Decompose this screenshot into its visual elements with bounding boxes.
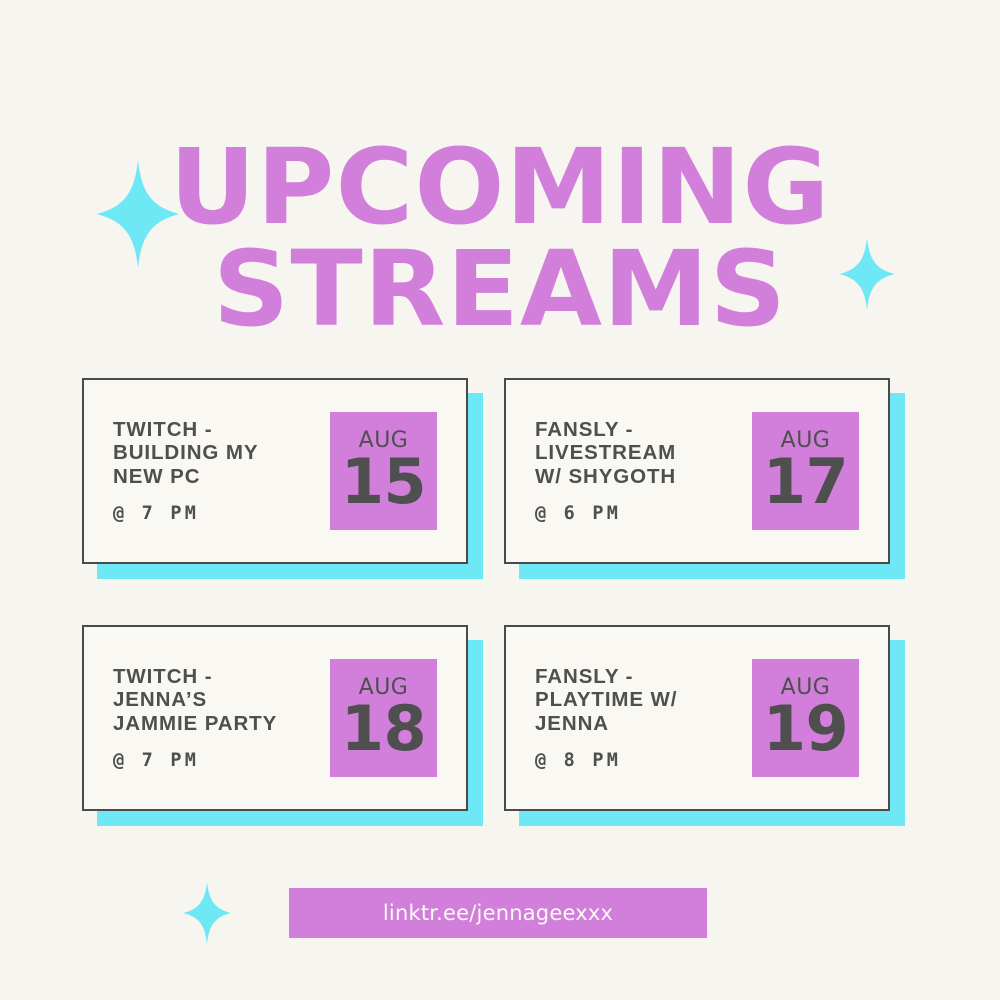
stream-card[interactable]: FANSLY - PLAYTIME W/ JENNA @ 8 PM AUG 19 <box>504 625 890 811</box>
linktree-url-text: linktr.ee/jennageexxx <box>383 901 613 925</box>
stream-card[interactable]: TWITCH - BUILDING MY NEW PC @ 7 PM AUG 1… <box>82 378 468 564</box>
stream-card-wrapper: TWITCH - BUILDING MY NEW PC @ 7 PM AUG 1… <box>82 378 468 564</box>
page-title-line-1: UPCOMING <box>0 137 1000 239</box>
date-badge: AUG 18 <box>330 659 437 777</box>
date-badge: AUG 15 <box>330 412 437 530</box>
stream-card-row: TWITCH - JENNA’S JAMMIE PARTY @ 7 PM AUG… <box>82 625 902 811</box>
date-badge: AUG 17 <box>752 412 859 530</box>
sparkle-icon <box>182 882 232 944</box>
page-title-line-2: STREAMS <box>0 239 1000 341</box>
stream-time: @ 7 PM <box>113 503 326 524</box>
stream-time: @ 6 PM <box>535 503 748 524</box>
linktree-link-bar[interactable]: linktr.ee/jennageexxx <box>289 888 707 938</box>
stream-time: @ 8 PM <box>535 750 748 771</box>
date-day: 15 <box>341 450 426 513</box>
date-day: 18 <box>341 697 426 760</box>
stream-title: TWITCH - JENNA’S JAMMIE PARTY <box>113 665 326 734</box>
stream-card-row: TWITCH - BUILDING MY NEW PC @ 7 PM AUG 1… <box>82 378 902 564</box>
stream-card-wrapper: FANSLY - PLAYTIME W/ JENNA @ 8 PM AUG 19 <box>504 625 890 811</box>
date-badge: AUG 19 <box>752 659 859 777</box>
stream-card[interactable]: TWITCH - JENNA’S JAMMIE PARTY @ 7 PM AUG… <box>82 625 468 811</box>
stream-card-body: FANSLY - PLAYTIME W/ JENNA @ 8 PM <box>506 665 752 770</box>
stream-time: @ 7 PM <box>113 750 326 771</box>
poster-canvas: UPCOMING STREAMS TWITCH - BUILDING MY NE… <box>0 0 1000 1000</box>
stream-card-body: FANSLY - LIVESTREAM W/ SHYGOTH @ 6 PM <box>506 418 752 523</box>
date-day: 19 <box>763 697 848 760</box>
stream-title: FANSLY - PLAYTIME W/ JENNA <box>535 665 748 734</box>
stream-card[interactable]: FANSLY - LIVESTREAM W/ SHYGOTH @ 6 PM AU… <box>504 378 890 564</box>
stream-card-body: TWITCH - BUILDING MY NEW PC @ 7 PM <box>84 418 330 523</box>
page-title: UPCOMING STREAMS <box>0 137 1000 341</box>
stream-card-wrapper: FANSLY - LIVESTREAM W/ SHYGOTH @ 6 PM AU… <box>504 378 890 564</box>
date-day: 17 <box>763 450 848 513</box>
stream-card-grid: TWITCH - BUILDING MY NEW PC @ 7 PM AUG 1… <box>82 378 902 811</box>
stream-card-wrapper: TWITCH - JENNA’S JAMMIE PARTY @ 7 PM AUG… <box>82 625 468 811</box>
stream-title: TWITCH - BUILDING MY NEW PC <box>113 418 326 487</box>
stream-card-body: TWITCH - JENNA’S JAMMIE PARTY @ 7 PM <box>84 665 330 770</box>
stream-title: FANSLY - LIVESTREAM W/ SHYGOTH <box>535 418 748 487</box>
